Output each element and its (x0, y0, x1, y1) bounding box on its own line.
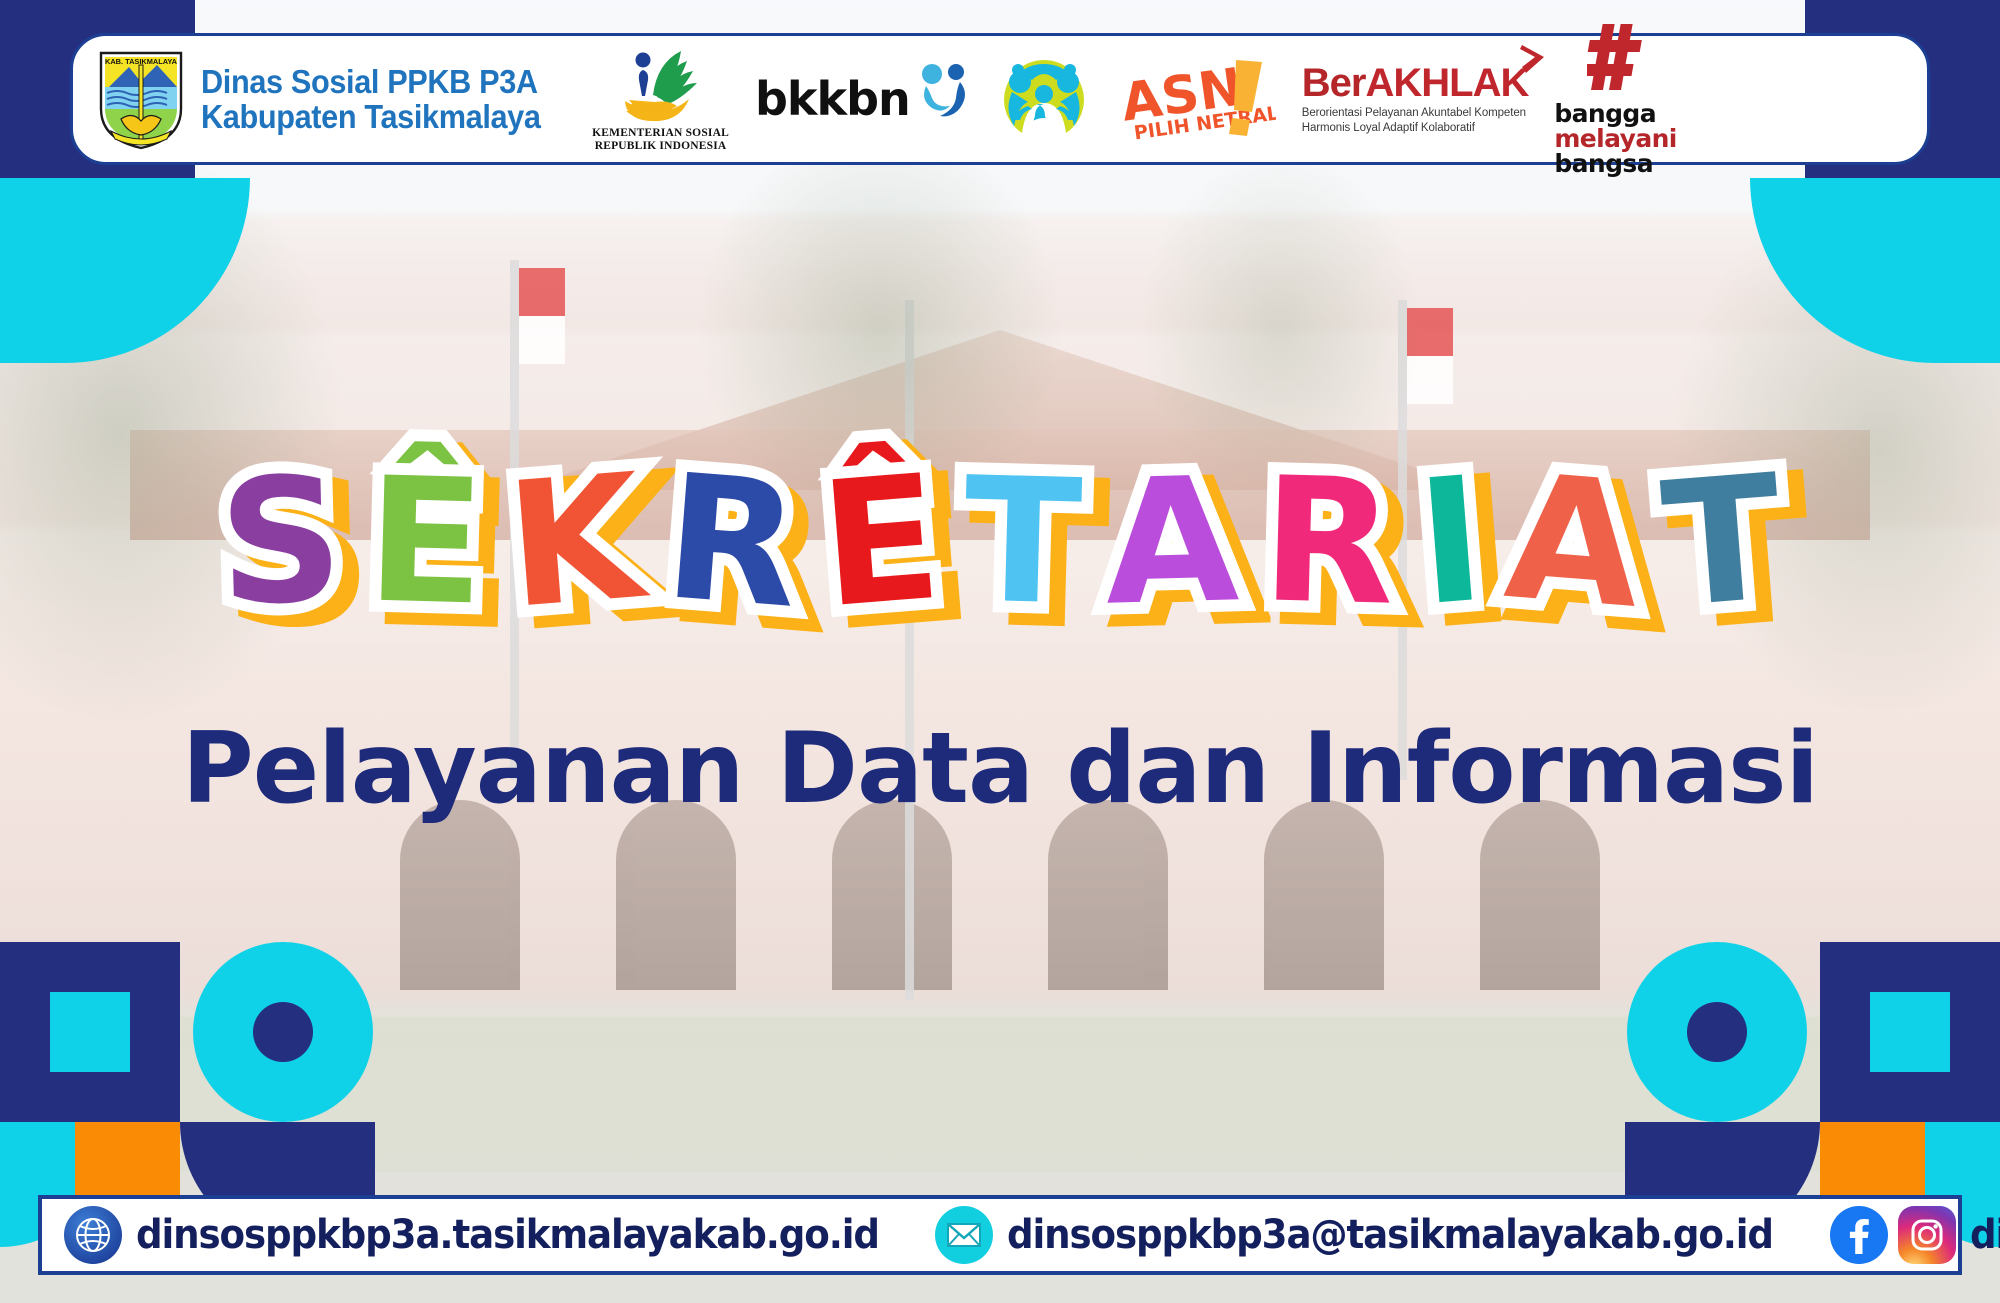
crest-caption: KAB. TASIKMALAYA (105, 57, 178, 66)
contact-social[interactable]: dinsosppkbp3a.kabtasik (1830, 1206, 2000, 1264)
org-identity: KAB. TASIKMALAYA Dinas Sosial PPKB P3A K… (95, 47, 566, 151)
title-letter: TTT (1657, 448, 1788, 637)
header-logo-bar: KAB. TASIKMALAYA Dinas Sosial PPKB P3A K… (70, 33, 1930, 165)
org-name-line1: Dinas Sosial PPKB P3A (201, 64, 541, 99)
title-letter: AAA (1500, 447, 1647, 637)
asn-icon: ASN PILIH NETRAL (1116, 56, 1276, 142)
title-letter: RRR (659, 447, 805, 637)
mail-icon (935, 1206, 993, 1264)
genre-family-icon (998, 56, 1090, 142)
org-name: Dinas Sosial PPKB P3A Kabupaten Tasikmal… (201, 64, 541, 135)
title-letter: AAA (1103, 450, 1241, 634)
flag-right (1407, 308, 1453, 404)
contact-website[interactable]: dinsosppkbp3a.tasikmalayakab.go.id (64, 1206, 935, 1264)
title-letter: SSS (217, 450, 346, 634)
kemensos-caption-l1: KEMENTERIAN SOSIAL (592, 127, 729, 140)
social-handle-text: dinsosppkbp3a.kabtasik (1970, 1212, 2000, 1258)
genre-logo (998, 56, 1090, 142)
contact-email[interactable]: dinsosppkbp3a@tasikmalayakab.go.id (935, 1206, 1831, 1264)
berakhlak-title-b: AKHLAK (1365, 61, 1528, 105)
partner-logos: KEMENTERIAN SOSIAL REPUBLIK INDONESIA bk… (592, 22, 1677, 176)
corner-deco-bottom-right-square-inner (1870, 992, 1950, 1072)
facebook-icon[interactable] (1830, 1206, 1888, 1264)
bkkbn-wordmark: bkkbn (755, 72, 910, 126)
flag-left (519, 268, 565, 364)
title-letter: III (1412, 450, 1490, 635)
tasikmalaya-crest-icon: KAB. TASIKMALAYA (95, 47, 187, 151)
footer-contact-bar: dinsosppkbp3a.tasikmalayakab.go.id dinso… (38, 1195, 1962, 1275)
berakhlak-title-a: Ber (1302, 61, 1366, 105)
berakhlak-logo: BerAKHLAK Berorientasi Pelayanan Akuntab… (1302, 63, 1529, 134)
bmb-line2: melayani (1554, 126, 1676, 151)
bangga-melayani-bangsa-logo: bangga melayani bangsa (1554, 22, 1676, 176)
berakhlak-sub-l2: Harmonis Loyal Adaptif Kolaboratif (1302, 121, 1526, 135)
social-icon-group (1830, 1206, 1956, 1264)
bkkbn-logo: bkkbn (755, 62, 972, 136)
org-name-line2: Kabupaten Tasikmalaya (201, 99, 541, 134)
title-letter: ÊÊÊ (365, 450, 487, 634)
bmb-line3: bangsa (1554, 151, 1676, 176)
hash-icon (1587, 22, 1645, 92)
corner-deco-bottom-left-ring-center (253, 1002, 313, 1062)
email-text: dinsosppkbp3a@tasikmalayakab.go.id (1007, 1212, 1773, 1258)
kemensos-logo: KEMENTERIAN SOSIAL REPUBLIK INDONESIA (592, 45, 729, 153)
berakhlak-subtitle: Berorientasi Pelayanan Akuntabel Kompete… (1302, 106, 1526, 134)
building-windows (400, 800, 1600, 990)
title-letter: ÊÊÊ (815, 448, 946, 637)
poster-canvas: KAB. TASIKMALAYA Dinas Sosial PPKB P3A K… (0, 0, 2000, 1303)
title-letter: TTT (961, 450, 1083, 634)
globe-icon (64, 1206, 122, 1264)
website-text: dinsosppkbp3a.tasikmalayakab.go.id (136, 1212, 879, 1258)
kemensos-icon (613, 45, 709, 125)
subtitle: Pelayanan Data dan Informasi (0, 712, 2000, 826)
kemensos-caption-l2: REPUBLIK INDONESIA (592, 140, 729, 153)
title-letter: RRR (1260, 450, 1397, 634)
asn-pilih-netral-logo: ASN PILIH NETRAL (1116, 56, 1276, 142)
bmb-wordmark: bangga melayani bangsa (1554, 101, 1676, 176)
main-title: SSSÊÊÊKKKRRRÊÊÊTTTAAARRRIIIAAATTT (0, 452, 2000, 633)
berakhlak-swoosh-icon (1520, 43, 1548, 77)
kemensos-caption: KEMENTERIAN SOSIAL REPUBLIK INDONESIA (592, 127, 729, 153)
bmb-line1: bangga (1554, 101, 1676, 126)
bkkbn-mark-icon (916, 62, 972, 120)
title-letter: KKK (502, 447, 649, 637)
corner-deco-bottom-left-square-inner (50, 992, 130, 1072)
berakhlak-sub-l1: Berorientasi Pelayanan Akuntabel Kompete… (1302, 106, 1526, 120)
corner-deco-bottom-right-ring-center (1687, 1002, 1747, 1062)
berakhlak-title: BerAKHLAK (1302, 61, 1529, 105)
instagram-icon[interactable] (1898, 1206, 1956, 1264)
